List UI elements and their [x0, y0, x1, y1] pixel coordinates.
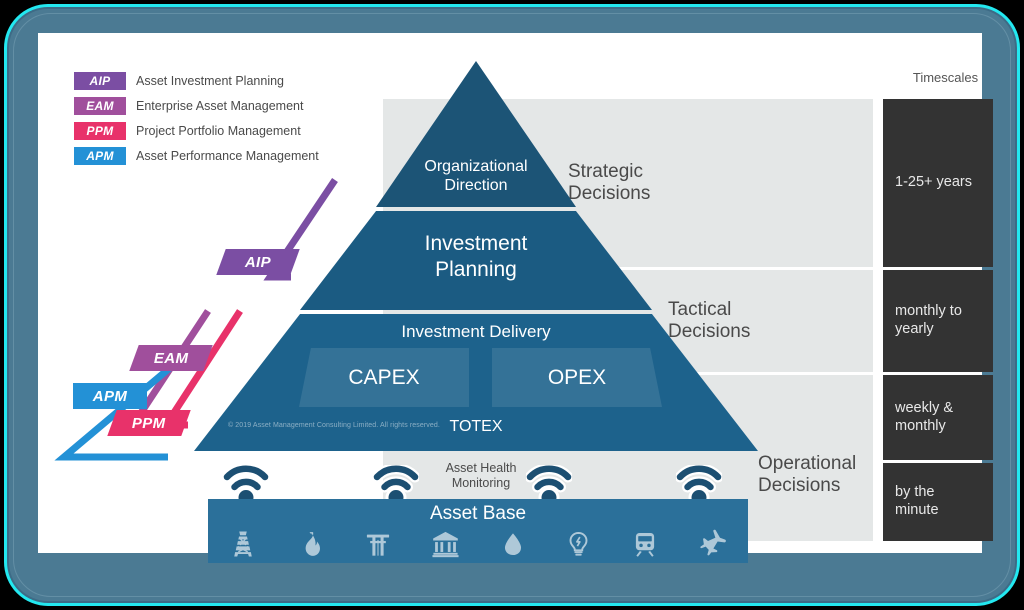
pyramid-tier-investment-delivery: Investment Delivery CAPEX OPEX TOTEX © 2…	[194, 314, 758, 451]
power-pylon-icon	[228, 529, 258, 559]
diagram-card: AIP Asset Investment Planning EAM Enterp…	[38, 33, 982, 553]
bracket-badge-aip-text: AIP	[245, 254, 271, 271]
bracket-badge-ppm: PPM	[107, 410, 190, 436]
asset-icon-row	[208, 529, 748, 559]
bracket-badge-eam: EAM	[129, 345, 212, 371]
airplane-icon	[698, 529, 728, 559]
copyright-notice: © 2019 Asset Management Consulting Limit…	[228, 422, 440, 429]
asset-base-label: Asset Base	[208, 503, 748, 525]
train-icon	[631, 529, 659, 559]
bracket-badge-eam-text: EAM	[154, 350, 189, 367]
ahm-line1: Asset Health	[431, 461, 531, 476]
investment-delivery-title: Investment Delivery	[194, 322, 758, 342]
lightbulb-icon	[565, 529, 592, 559]
government-building-icon	[431, 529, 460, 559]
bracket-badge-apm: APM	[73, 383, 147, 409]
water-droplet-icon	[500, 529, 526, 559]
bracket-badge-aip: AIP	[216, 249, 299, 275]
bracket-badge-ppm-text: PPM	[132, 415, 166, 432]
bridge-icon	[364, 529, 392, 559]
maturity-pyramid: Organizational Direction Investment Plan…	[38, 33, 982, 553]
gas-flame-icon	[297, 529, 325, 559]
asset-health-monitoring-label: Asset Health Monitoring	[431, 461, 531, 491]
bracket-badge-apm-text: APM	[93, 388, 128, 405]
ahm-line2: Monitoring	[431, 476, 531, 491]
opex-box: OPEX	[492, 348, 662, 407]
pyramid-tier-organizational-direction	[376, 61, 576, 207]
pyramid-tier-investment-planning	[300, 211, 652, 310]
pyramid-tier-asset-base: Asset Base	[208, 499, 748, 563]
capex-box: CAPEX	[299, 348, 469, 407]
